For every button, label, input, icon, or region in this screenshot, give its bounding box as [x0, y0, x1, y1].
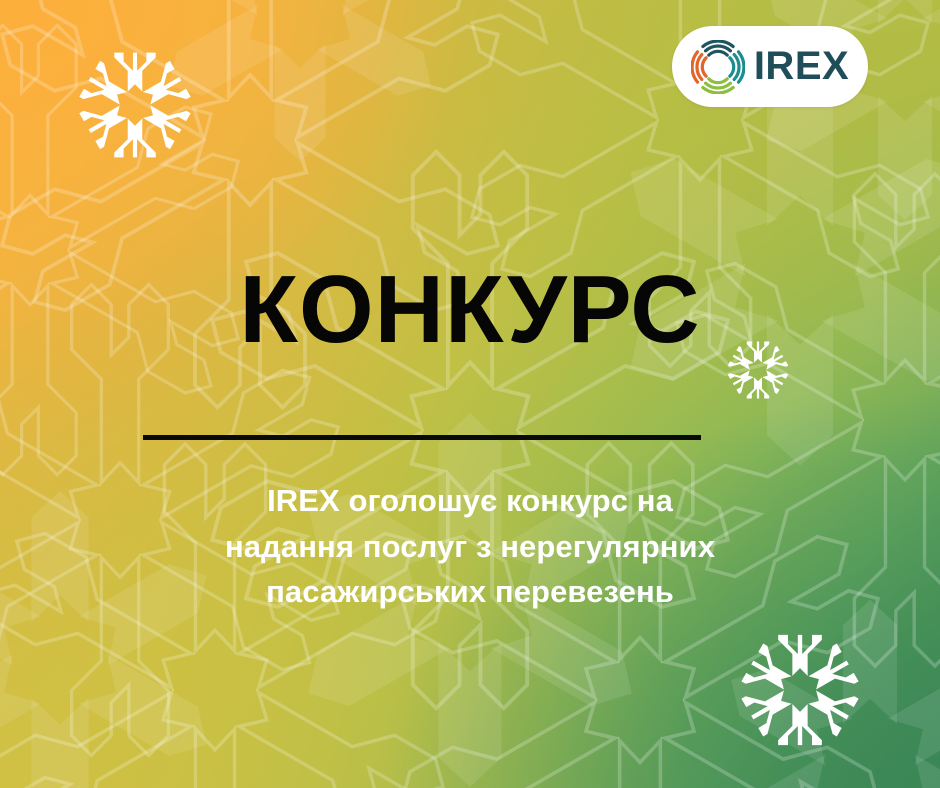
subtitle: IREX оголошує конкурс на надання послуг …: [120, 478, 820, 615]
page-title: КОНКУРС: [0, 262, 940, 358]
divider: [143, 435, 701, 440]
irex-concentric-arcs-mark: [691, 40, 745, 94]
poster-canvas: IREX: [0, 0, 940, 788]
subtitle-line-2: надання послуг з нерегулярних: [120, 524, 820, 570]
subtitle-line-3: пасажирських перевезень: [120, 569, 820, 615]
background-gradient-bottom-right: [0, 0, 940, 788]
irex-logo-badge[interactable]: IREX: [672, 26, 868, 107]
subtitle-line-1: IREX оголошує конкурс на: [120, 478, 820, 524]
irex-wordmark: IREX: [754, 46, 849, 88]
